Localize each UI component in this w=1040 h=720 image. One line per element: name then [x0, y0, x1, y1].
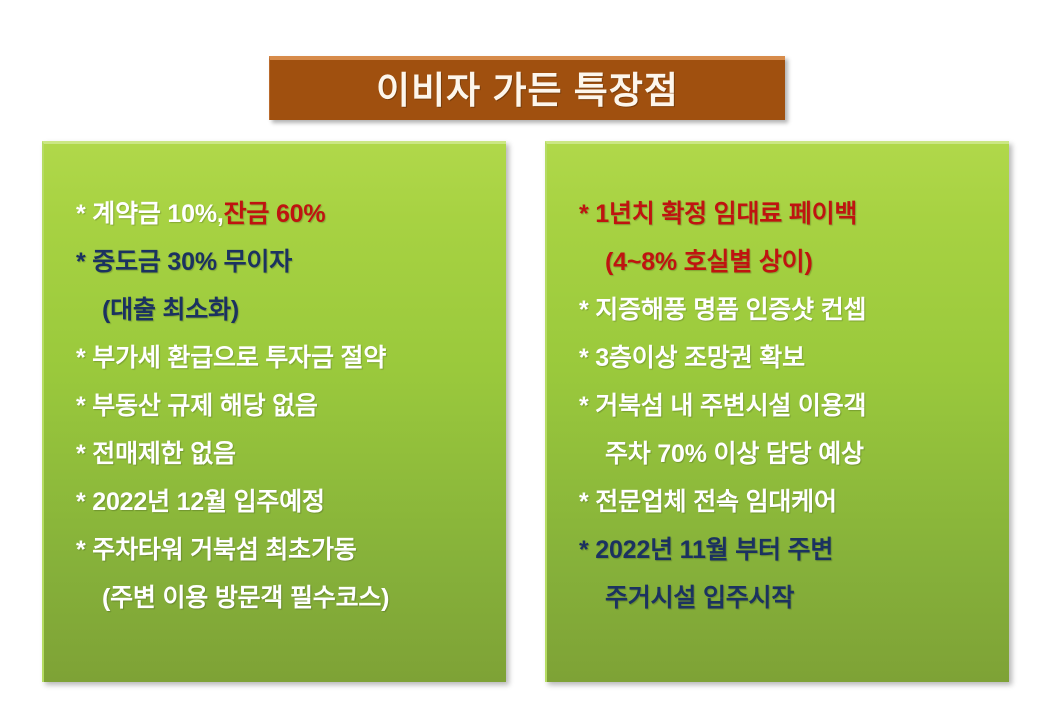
bullet-line: * 전문업체 전속 임대케어 — [547, 478, 1009, 526]
bullet-line: 주차 70% 이상 담당 예상 — [547, 430, 1009, 478]
bullet-line: * 주차타워 거북섬 최초가동 — [44, 526, 506, 574]
bullet-line: * 계약금 10%, 잔금 60% — [44, 190, 506, 238]
bullet-line: * 3층이상 조망권 확보 — [547, 334, 1009, 382]
bullet-line: (4~8% 호실별 상이) — [547, 238, 1009, 286]
bullet-line: * 중도금 30% 무이자 — [44, 238, 506, 286]
bullet-line: * 전매제한 없음 — [44, 430, 506, 478]
bullet-line: * 부가세 환급으로 투자금 절약 — [44, 334, 506, 382]
bullet-line: * 2022년 12월 입주예정 — [44, 478, 506, 526]
bullet-line: 주거시설 입주시작 — [547, 574, 1009, 622]
feature-panel-right: * 1년치 확정 임대료 페이백(4~8% 호실별 상이)* 지증해풍 명품 인… — [545, 141, 1009, 682]
bullet-line: * 부동산 규제 해당 없음 — [44, 382, 506, 430]
page-title: 이비자 가든 특장점 — [376, 72, 679, 109]
slide-canvas: 이비자 가든 특장점 * 계약금 10%, 잔금 60%* 중도금 30% 무이… — [0, 0, 1040, 720]
bullet-line: * 1년치 확정 임대료 페이백 — [547, 190, 1009, 238]
feature-panel-left: * 계약금 10%, 잔금 60%* 중도금 30% 무이자(대출 최소화)* … — [42, 141, 506, 682]
bullet-line: (주변 이용 방문객 필수코스) — [44, 574, 506, 622]
title-banner: 이비자 가든 특장점 — [269, 56, 785, 120]
bullet-line-segment: 잔금 60% — [224, 202, 326, 227]
bullet-line: * 2022년 11월 부터 주변 — [547, 526, 1009, 574]
bullet-line: (대출 최소화) — [44, 286, 506, 334]
bullet-line: * 거북섬 내 주변시설 이용객 — [547, 382, 1009, 430]
bullet-line: * 지증해풍 명품 인증샷 컨셉 — [547, 286, 1009, 334]
bullet-line-segment: * 계약금 10%, — [76, 202, 224, 227]
